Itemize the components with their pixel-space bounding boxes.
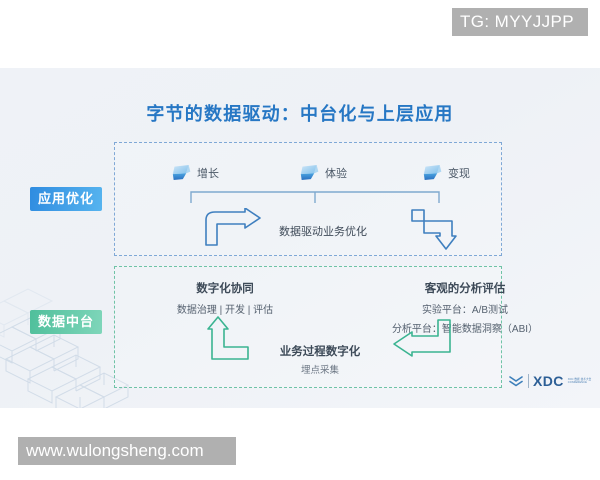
data-right-heading: 客观的分析评估 [370,280,560,296]
slide-canvas: 字节的数据驱动：中台化与上层应用 应用优化 [0,68,600,408]
application-flow-caption: 数据驱动业务优化 [279,223,367,239]
app-item-monetization: 变现 [423,164,470,181]
page-title: 字节的数据驱动：中台化与上层应用 [0,100,600,126]
badge-application-optimization: 应用优化 [30,187,102,211]
app-item-label: 变现 [448,165,470,181]
app-item-label: 体验 [325,165,347,181]
data-left-block: 数字化协同 数据治理 | 开发 | 评估 [150,280,300,316]
arrow-down-blue-icon [410,208,468,250]
arrow-right-blue-icon [204,208,262,246]
chevron-stack-icon [508,373,524,389]
arrow-up-green-icon [198,316,256,360]
data-left-subtitle: 数据治理 | 开发 | 评估 [150,301,300,316]
logo-tagline: XDC 数据 技术大会 CONFERENCE [568,378,594,385]
paper-plane-icon [172,164,192,181]
grouping-bracket [190,190,440,204]
paper-plane-icon [300,164,320,181]
xdc-logo: XDC XDC 数据 技术大会 CONFERENCE [508,373,594,389]
screenshot-root: TG: MYYJJPP [0,0,600,480]
data-center-subtitle: 埋点采集 [255,362,385,376]
badge-data-platform: 数据中台 [30,310,102,334]
paper-plane-icon [423,164,443,181]
data-left-heading: 数字化协同 [150,280,300,296]
watermark-top-right: TG: MYYJJPP [452,8,588,36]
logo-divider [528,374,529,388]
data-center-block: 业务过程数字化 埋点采集 [255,343,385,376]
app-item-experience: 体验 [300,164,347,181]
logo-wordmark: XDC [533,373,564,389]
app-item-growth: 增长 [172,164,219,181]
data-right-line-1: 实验平台：A/B测试 [370,301,560,316]
watermark-bottom-left: www.wulongsheng.com [18,437,236,465]
data-center-heading: 业务过程数字化 [255,343,385,359]
app-item-label: 增长 [197,165,219,181]
arrow-left-green-icon [390,318,452,360]
